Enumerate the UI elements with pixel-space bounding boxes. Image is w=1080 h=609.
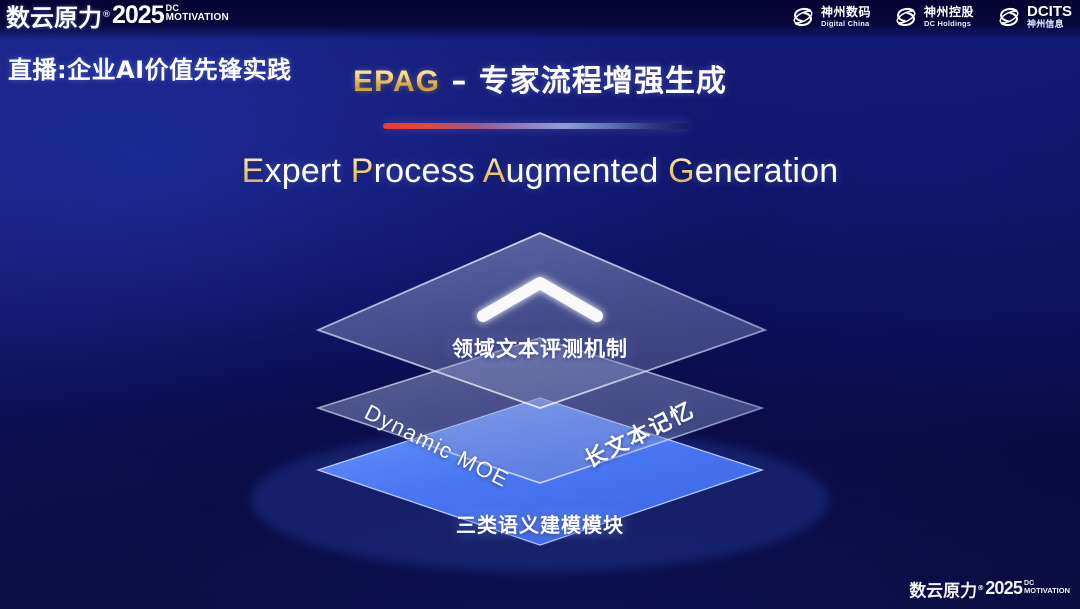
layer-label-bottom: 三类语义建模模块: [0, 509, 1080, 538]
swirl-logo-icon: [893, 4, 919, 30]
subtitle-part-2: P: [351, 152, 374, 190]
partner-name-en: Digital China: [821, 20, 871, 28]
title-dash: –: [440, 64, 479, 99]
swirl-logo-icon: [790, 4, 816, 30]
live-stream-title: 直播:企业AI价值先锋实践: [8, 50, 292, 85]
partner-text: 神州控股 DC Holdings: [924, 6, 974, 28]
brand-logo: 数云原力® 2025 DC MOTIVATION: [6, 2, 229, 31]
slide-canvas: 数云原力® 2025 DC MOTIVATION 直播:企业AI价值先锋实践 神…: [0, 0, 1080, 609]
title-divider: [383, 123, 688, 129]
page-subtitle: Expert Process Augmented Generation: [0, 152, 1080, 191]
partner-logo-dcits: DCITS 神州信息: [996, 4, 1072, 30]
partner-name-cn: 神州数码: [821, 6, 871, 18]
subtitle-part-6: G: [668, 152, 695, 190]
diagram-layer-top[interactable]: [318, 233, 765, 408]
partner-text: DCITS 神州信息: [1027, 4, 1072, 30]
partner-logo-group: 神州数码 Digital China 神州控股 DC Holdings: [790, 4, 1072, 30]
watermark-name-cn: 数云原力®: [909, 579, 984, 601]
brand-name-cn: 数云原力®: [6, 2, 111, 31]
partner-text: 神州数码 Digital China: [821, 6, 871, 28]
watermark-dc-motivation: DC MOTIVATION: [1024, 580, 1070, 594]
brand-motivation-label: MOTIVATION: [166, 13, 229, 22]
partner-name-cn: 神州控股: [924, 6, 974, 18]
layer-label-top: 领域文本评测机制: [0, 333, 1080, 363]
registered-mark-icon: ®: [977, 584, 984, 592]
watermark-year: 2025: [985, 579, 1022, 597]
partner-logo-dc-holdings: 神州控股 DC Holdings: [893, 4, 974, 30]
subtitle-part-3: rocess: [374, 152, 483, 190]
subtitle-part-5: ugmented: [506, 152, 668, 190]
partner-name-en: DC Holdings: [924, 20, 974, 28]
brand-year: 2025: [112, 2, 164, 28]
top-layer-plate: [318, 233, 765, 408]
partner-name-cn: 神州信息: [1027, 21, 1072, 30]
title-chinese: 专家流程增强生成: [479, 64, 727, 99]
partner-name-en: DCITS: [1027, 4, 1072, 19]
watermark-motivation-label: MOTIVATION: [1024, 587, 1070, 594]
watermark-logo: 数云原力® 2025 DC MOTIVATION: [909, 579, 1070, 601]
brand-dc-motivation: DC MOTIVATION: [166, 4, 229, 22]
subtitle-part-1: xpert: [265, 152, 351, 190]
registered-mark-icon: ®: [102, 10, 111, 20]
partner-logo-digital-china: 神州数码 Digital China: [790, 4, 871, 30]
subtitle-part-0: E: [242, 152, 265, 190]
subtitle-part-4: A: [483, 152, 506, 190]
subtitle-part-7: eneration: [695, 152, 839, 190]
title-acronym: EPAG: [353, 65, 440, 98]
swirl-logo-icon: [996, 4, 1022, 30]
